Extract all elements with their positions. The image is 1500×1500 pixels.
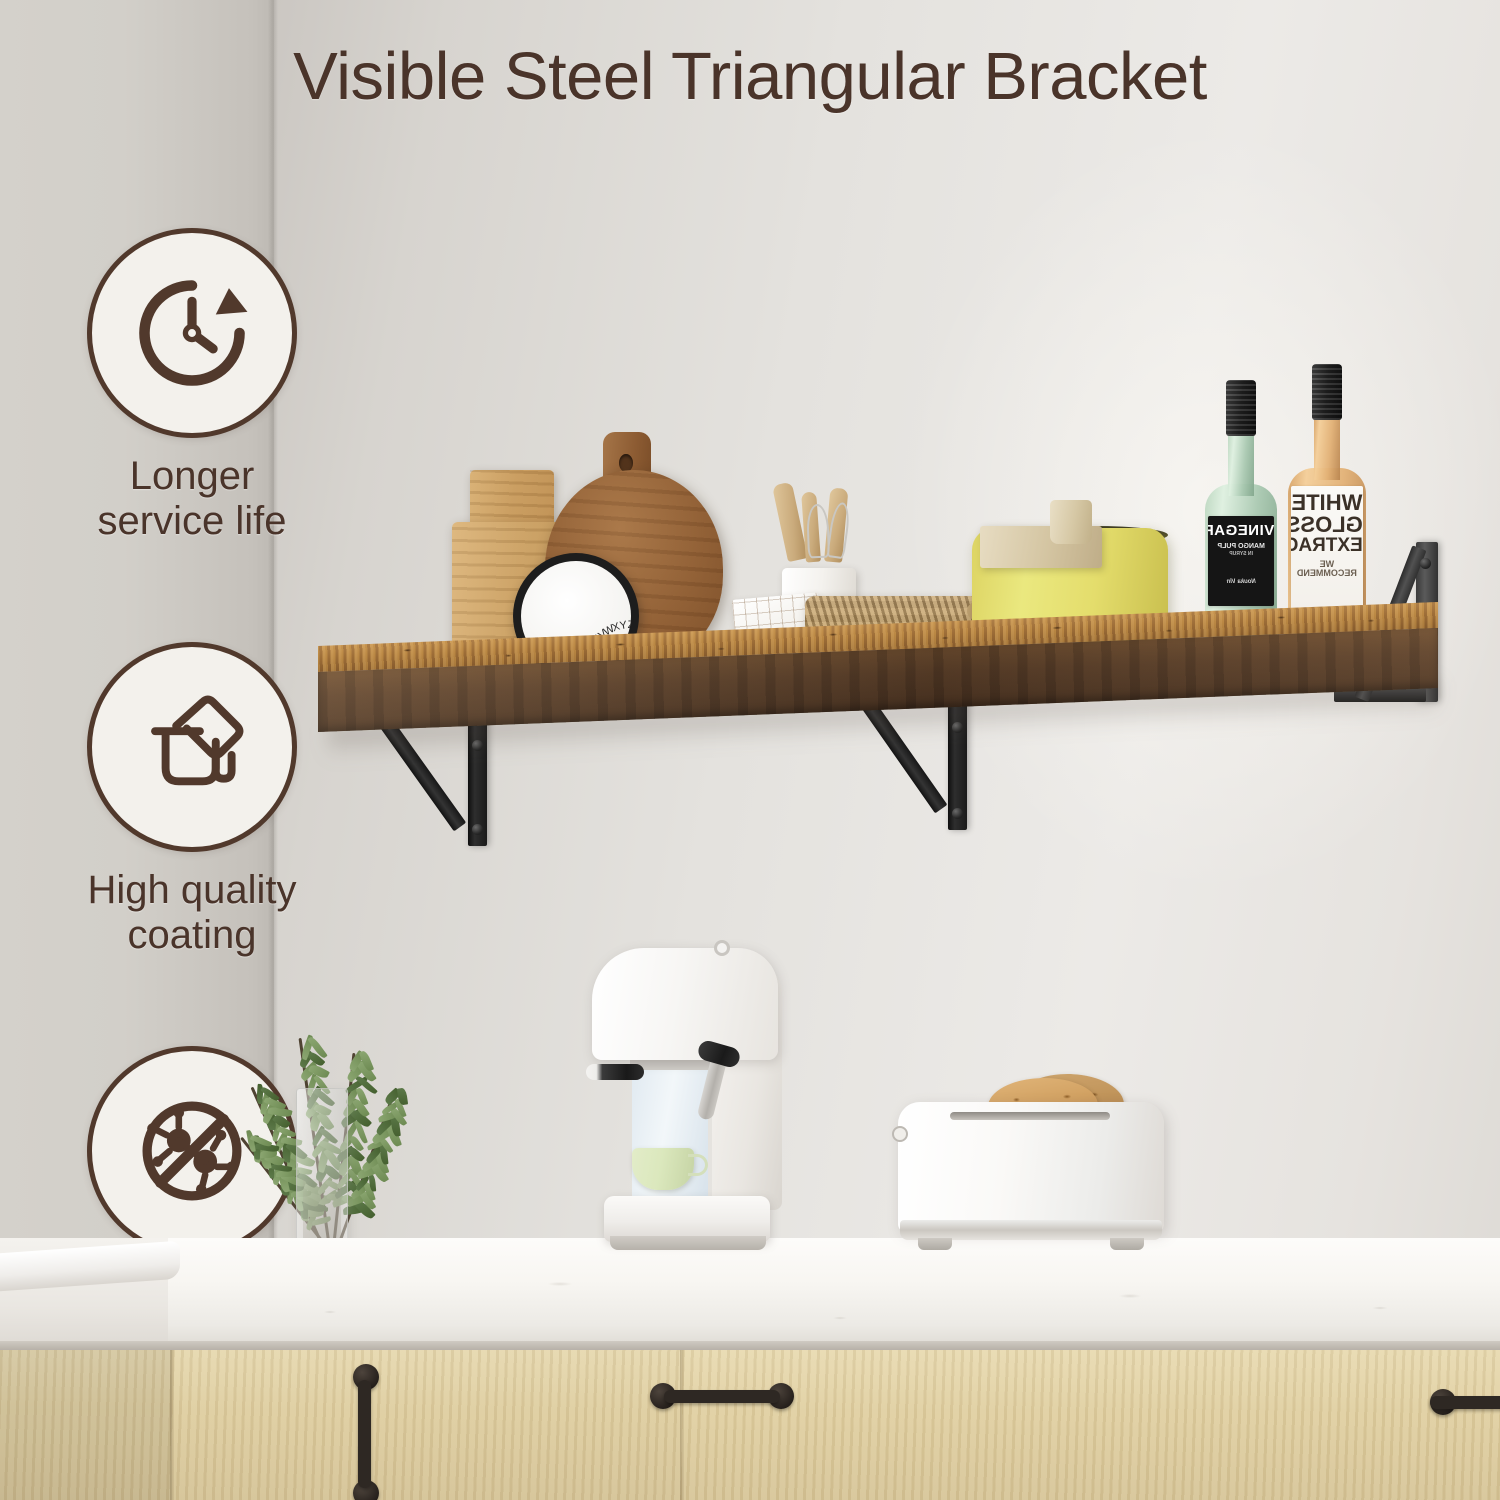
jar-lid-knob: [1050, 500, 1092, 544]
toaster: [898, 1090, 1164, 1258]
handle-bar: [1430, 1396, 1500, 1409]
no-germs-icon: [126, 1085, 258, 1217]
cabinet-handle-drawer[interactable]: [648, 1380, 796, 1414]
cabinet-seam-1: [170, 1350, 174, 1500]
feature-badge-longer-service-life: Longer service life: [62, 228, 322, 544]
cabinet-seam-2: [680, 1350, 684, 1500]
vinegar-bottle-neck: [1228, 430, 1254, 496]
extract-bottle-cap: [1312, 364, 1342, 420]
bracket-screw-middle-bottom: [952, 808, 963, 819]
cabinet-drawer: [682, 1350, 1500, 1500]
wall-shelf-product: ZABCDEFGHIJKLABCDEFGHIJKLMNOPQRSTUVWXY: [318, 600, 1438, 900]
toaster-foot-left: [918, 1238, 952, 1250]
countertop-front-edge: [0, 1341, 1500, 1350]
handle-bar: [664, 1390, 780, 1403]
espresso-top-knob: [714, 940, 730, 956]
espresso-hood: [592, 948, 778, 1060]
paint-roller-icon: [126, 681, 258, 813]
bracket-screw-right-top: [1420, 558, 1431, 569]
cabinet-panel-left: [0, 1350, 172, 1500]
vinegar-bottle-label: VINEGAR MANGO PULP IN SYRUP Nouka Vin: [1208, 516, 1274, 606]
toaster-slot: [950, 1112, 1110, 1120]
toaster-foot-right: [1110, 1238, 1144, 1250]
product-feature-scene: Visible Steel Triangular Bracket Longer …: [0, 0, 1500, 1500]
badge-circle-2: [87, 642, 297, 852]
toaster-chrome-band: [900, 1220, 1162, 1240]
espresso-cup: [632, 1148, 694, 1190]
bracket-screw-left-bottom: [472, 824, 483, 835]
glass-vase: [296, 1088, 348, 1256]
feature-label-1: Longer service life: [62, 454, 322, 544]
extract-bottle-neck: [1314, 414, 1340, 480]
extract-bottle-label: WHITE GLOSS EXTRACT WE RECOMMEND: [1291, 486, 1363, 624]
espresso-foot: [610, 1236, 766, 1250]
olive-branch-plant: [258, 930, 488, 1260]
clock-rotate-icon: [126, 267, 258, 399]
toaster-body: [898, 1102, 1164, 1232]
badge-circle-1: [87, 228, 297, 438]
espresso-portafilter-handle: [586, 1064, 644, 1080]
vinegar-bottle-cap: [1226, 380, 1256, 436]
handle-bar: [358, 1380, 371, 1488]
feature-badge-high-quality-coating: High quality coating: [62, 642, 322, 958]
page-title: Visible Steel Triangular Bracket: [0, 38, 1500, 115]
espresso-machine: [592, 948, 788, 1258]
cabinet-door: [172, 1350, 682, 1500]
toaster-dial[interactable]: [892, 1126, 908, 1142]
cabinet-handle-far-right[interactable]: [1430, 1388, 1500, 1418]
cabinet-handle-door[interactable]: [352, 1362, 392, 1500]
